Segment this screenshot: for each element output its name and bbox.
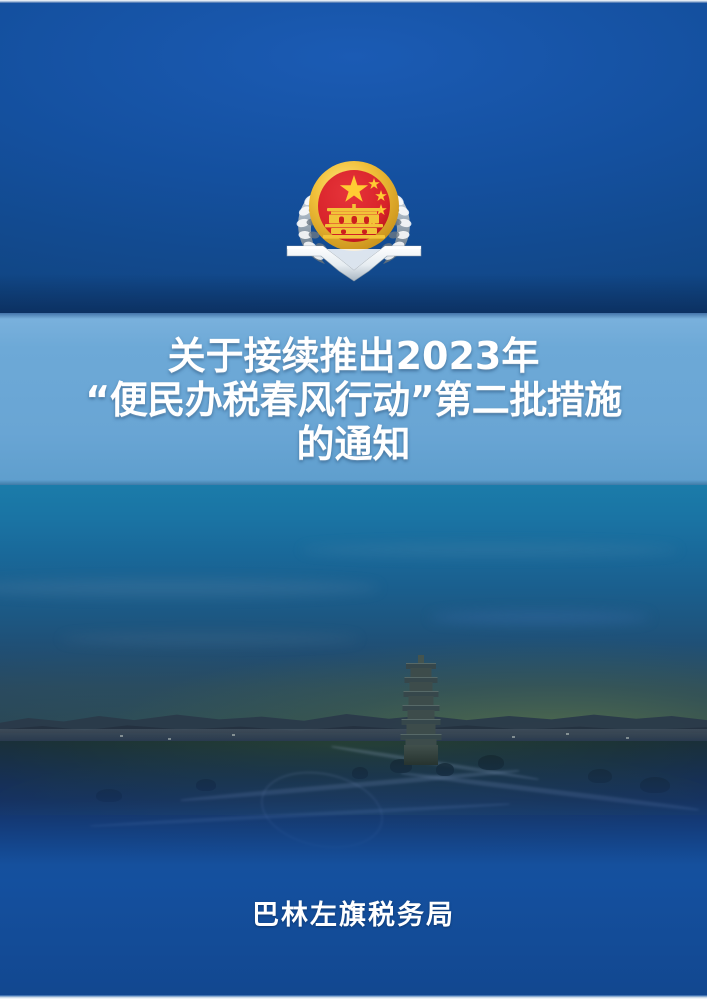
- pagoda-tier: [407, 724, 436, 734]
- cloud-streak: [300, 543, 680, 557]
- pagoda-tier: [409, 696, 434, 705]
- title-line-1: 关于接续推出2023年: [0, 334, 707, 378]
- emblem-svg: [279, 150, 429, 282]
- pagoda-finial: [418, 655, 424, 663]
- title-line-2: “便民办税春风行动”第二批措施: [0, 378, 707, 422]
- ribbon-banner: [287, 246, 421, 281]
- issuer-name: 巴林左旗税务局: [0, 893, 707, 932]
- pagoda-silhouette: [399, 655, 443, 765]
- landscape-scene: [0, 483, 707, 883]
- cloud-streak: [430, 611, 650, 624]
- poster-title: 关于接续推出2023年 “便民办税春风行动”第二批措施 的通知: [0, 334, 707, 466]
- cloud-streak: [60, 633, 360, 645]
- bottom-edge-strip: [0, 995, 707, 999]
- notice-cover-poster: 关于接续推出2023年 “便民办税春风行动”第二批措施 的通知 巴林左旗税务局: [0, 0, 707, 999]
- pagoda-base: [404, 745, 438, 765]
- china-tax-bureau-emblem: [279, 150, 429, 282]
- top-edge-strip: [0, 0, 707, 3]
- pagoda-tier: [410, 682, 433, 691]
- scene-fade-overlay: [0, 733, 707, 883]
- emblem-container: [0, 150, 707, 282]
- title-line-3: 的通知: [0, 422, 707, 466]
- pagoda-tier: [411, 668, 432, 677]
- pagoda-tier: [408, 710, 435, 719]
